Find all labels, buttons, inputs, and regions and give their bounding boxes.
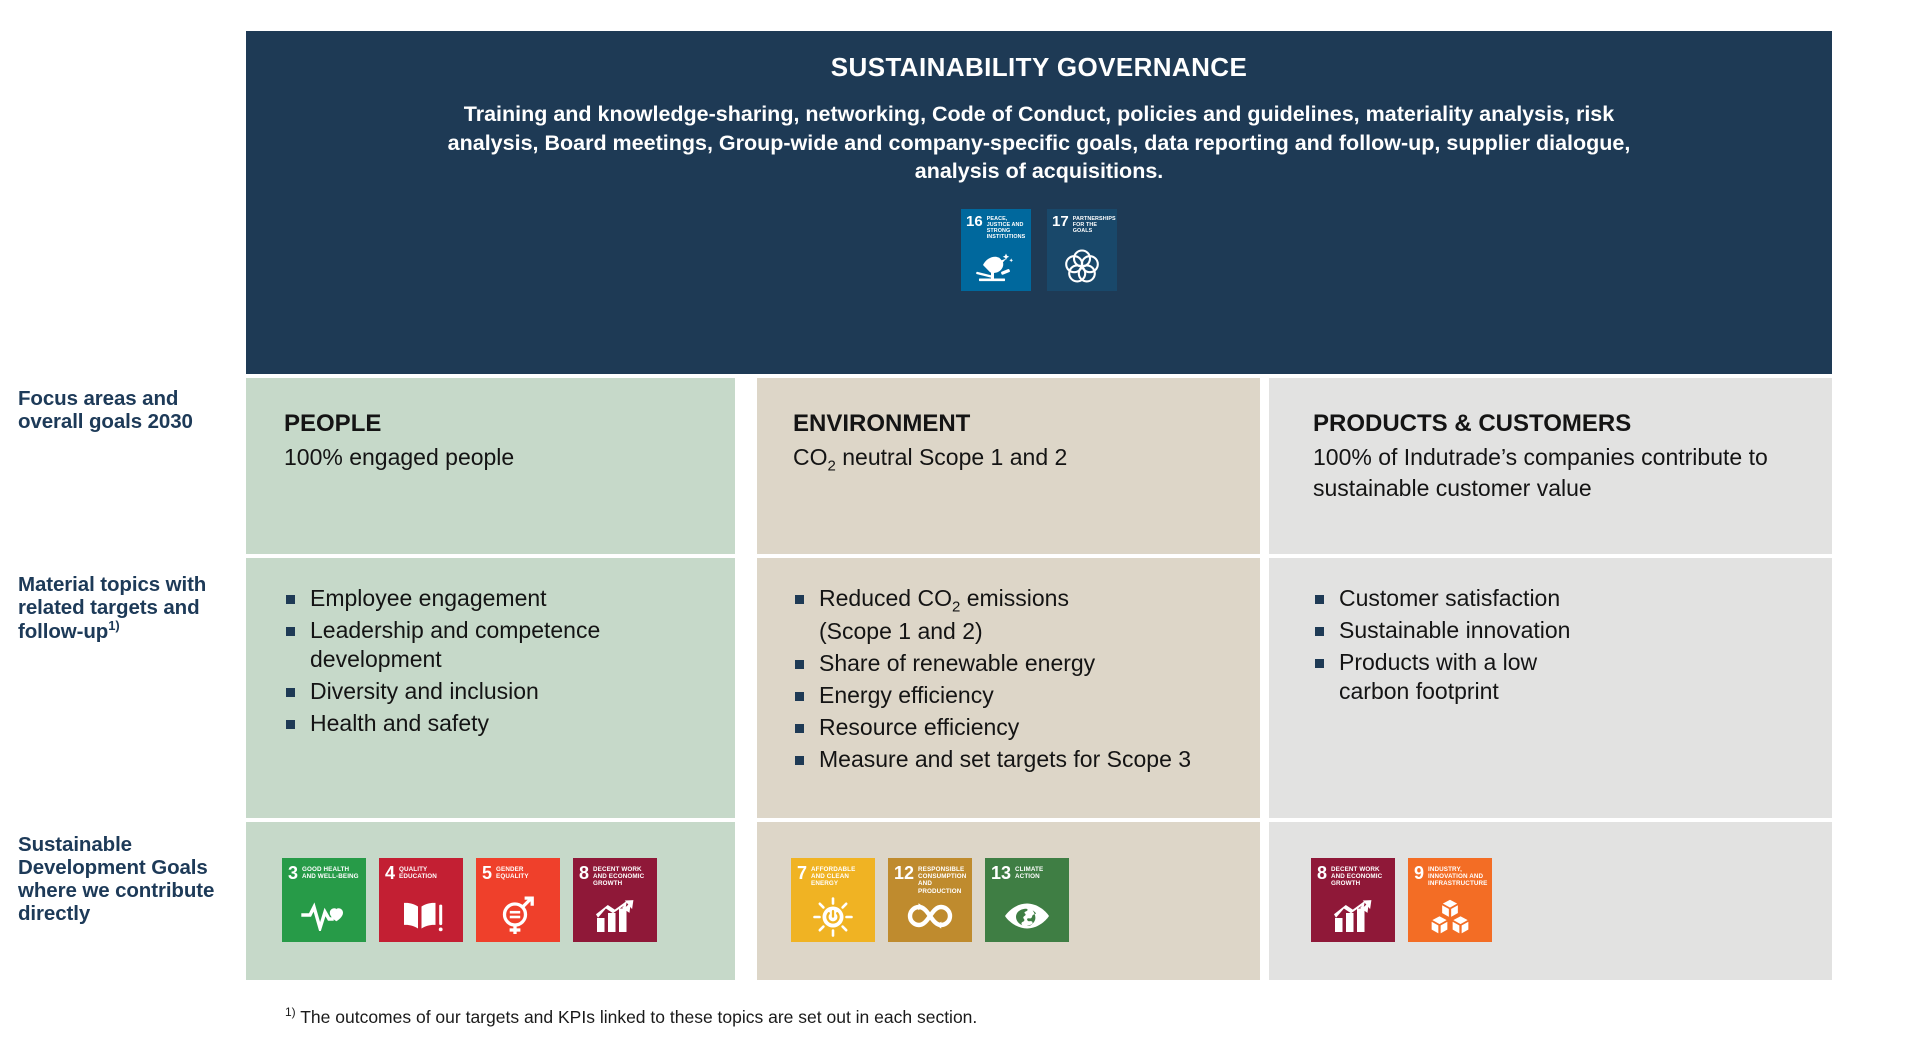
sdg-header: 16 Peace, justice and strong institution… (966, 215, 1026, 241)
sdg-title: Affordable and clean energy (811, 865, 869, 888)
sdg-tile-8[interactable]: 8Decent work and economic growth (573, 858, 657, 942)
sdg-tile-3[interactable]: 3Good health and well-being (282, 858, 366, 942)
gender-equality-icon (476, 895, 560, 937)
sdg-tile-5[interactable]: 5Gender equality (476, 858, 560, 942)
sdg-header: 12Responsible consumption and production (894, 865, 966, 895)
cell-people-topics: Employee engagementLeadership and compet… (246, 558, 735, 818)
sdg-tile-9[interactable]: 9Industry, innovation and infrastructure (1408, 858, 1492, 942)
sdg-tile-7[interactable]: 7Affordable and clean energy (791, 858, 875, 942)
sdg-title: Gender equality (496, 865, 554, 880)
sdg-title: Peace, justice and strong institutions (987, 215, 1026, 241)
sdg-tile-17[interactable]: 17 Partnerships for the goals (1047, 209, 1117, 291)
cell-products-topics: Customer satisfactionSustainable innovat… (1269, 558, 1832, 818)
infinity-loop-icon (888, 895, 972, 937)
sustainability-matrix: SUSTAINABILITY GOVERNANCE Training and k… (0, 0, 1920, 1048)
sdg-title: Decent work and economic growth (1331, 865, 1389, 888)
sdg-title: Responsible consumption and production (918, 865, 966, 895)
row-label-focus-areas: Focus areas and overall goals 2030 (18, 387, 233, 433)
sdg-tile-12[interactable]: 12Responsible consumption and production (888, 858, 972, 942)
row-label-material-topics: Material topics with related targets and… (18, 573, 233, 643)
dove-gavel-icon (961, 247, 1031, 287)
cell-environment-goal: ENVIRONMENT CO2 neutral Scope 1 and 2 (757, 378, 1260, 554)
cell-environment-sdgs: 7Affordable and clean energy12Responsibl… (757, 822, 1260, 980)
sdg-header: 17 Partnerships for the goals (1052, 215, 1112, 234)
column-goal-people: 100% engaged people (284, 442, 707, 473)
sdg-number: 7 (797, 865, 807, 882)
sdg-header: 7Affordable and clean energy (797, 865, 869, 888)
topic-item: Products with a lowcarbon footprint (1313, 648, 1812, 706)
heartbeat-icon (282, 895, 366, 937)
governance-sdg-list: 16 Peace, justice and strong institution… (246, 209, 1832, 291)
topic-list-people: Employee engagementLeadership and compet… (284, 584, 715, 738)
topic-item: Measure and set targets for Scope 3 (793, 745, 1246, 774)
sdg-tile-8[interactable]: 8Decent work and economic growth (1311, 858, 1395, 942)
cell-products-goal: PRODUCTS & CUSTOMERS 100% of Indutrade’s… (1269, 378, 1832, 554)
column-goal-environment: CO2 neutral Scope 1 and 2 (793, 442, 1232, 477)
footnote: 1) The outcomes of our targets and KPIs … (285, 1005, 977, 1028)
sdg-title: Industry, innovation and infrastructure (1428, 865, 1487, 888)
footnote-marker: 1) (108, 618, 119, 633)
sdg-list-people: 3Good health and well-being4Quality educ… (282, 858, 735, 942)
row-label-text: Sustainable Development Goals where we c… (18, 833, 214, 925)
governance-banner: SUSTAINABILITY GOVERNANCE Training and k… (246, 31, 1832, 374)
sdg-number: 17 (1052, 215, 1069, 229)
column-title-environment: ENVIRONMENT (793, 410, 1232, 438)
cell-people-goal: PEOPLE 100% engaged people (246, 378, 735, 554)
topic-item: Leadership and competence development (284, 616, 715, 674)
sdg-title: Quality education (399, 865, 457, 880)
sdg-tile-16[interactable]: 16 Peace, justice and strong institution… (961, 209, 1031, 291)
sdg-list-environment: 7Affordable and clean energy12Responsibl… (791, 858, 1260, 942)
topic-item: Share of renewable energy (793, 649, 1246, 678)
row-label-sdgs: Sustainable Development Goals where we c… (18, 833, 233, 926)
sdg-number: 4 (385, 865, 395, 882)
topic-item: Employee engagement (284, 584, 715, 613)
cubes-icon (1408, 895, 1492, 937)
topic-item: Reduced CO2 emissions(Scope 1 and 2) (793, 584, 1246, 646)
sdg-number: 3 (288, 865, 298, 882)
sdg-title: Decent work and economic growth (593, 865, 651, 888)
sdg-number: 8 (579, 865, 589, 882)
sdg-number: 13 (991, 865, 1011, 882)
topic-item: Diversity and inclusion (284, 677, 715, 706)
growth-chart-icon (573, 895, 657, 937)
sun-power-icon (791, 895, 875, 937)
topic-item: Customer satisfaction (1313, 584, 1812, 613)
sdg-header: 8Decent work and economic growth (1317, 865, 1389, 888)
sdg-header: 9Industry, innovation and infrastructure (1414, 865, 1486, 888)
cell-environment-topics: Reduced CO2 emissions(Scope 1 and 2)Shar… (757, 558, 1260, 818)
row-label-text: Focus areas and overall goals 2030 (18, 387, 193, 433)
column-title-people: PEOPLE (284, 410, 707, 438)
sdg-number: 16 (966, 215, 983, 229)
column-title-products: PRODUCTS & CUSTOMERS (1313, 410, 1804, 438)
sdg-header: 13Climate action (991, 865, 1063, 882)
sdg-list-products: 8Decent work and economic growth9Industr… (1311, 858, 1832, 942)
topic-list-environment: Reduced CO2 emissions(Scope 1 and 2)Shar… (793, 584, 1246, 774)
sdg-header: 3Good health and well-being (288, 865, 360, 882)
sdg-title: Climate action (1015, 865, 1063, 880)
sdg-number: 5 (482, 865, 492, 882)
governance-title: SUSTAINABILITY GOVERNANCE (246, 52, 1832, 83)
sdg-number: 8 (1317, 865, 1327, 882)
sdg-tile-4[interactable]: 4Quality education (379, 858, 463, 942)
footnote-marker: 1) (285, 1005, 296, 1019)
sdg-number: 9 (1414, 865, 1424, 882)
topic-item: Health and safety (284, 709, 715, 738)
sdg-tile-13[interactable]: 13Climate action (985, 858, 1069, 942)
topic-item: Sustainable innovation (1313, 616, 1812, 645)
sdg-title: Good health and well-being (302, 865, 360, 880)
sdg-number: 12 (894, 865, 914, 882)
sdg-header: 8Decent work and economic growth (579, 865, 651, 888)
growth-chart-icon (1311, 895, 1395, 937)
open-book-icon (379, 895, 463, 937)
sdg-header: 5Gender equality (482, 865, 554, 882)
column-goal-products: 100% of Indutrade’s companies contribute… (1313, 442, 1804, 503)
topic-list-products: Customer satisfactionSustainable innovat… (1313, 584, 1812, 706)
climate-eye-icon (985, 895, 1069, 937)
cell-products-sdgs: 8Decent work and economic growth9Industr… (1269, 822, 1832, 980)
sdg-header: 4Quality education (385, 865, 457, 882)
topic-item: Energy efficiency (793, 681, 1246, 710)
topic-item: Resource efficiency (793, 713, 1246, 742)
governance-description: Training and knowledge-sharing, networki… (246, 100, 1832, 186)
interlocking-circles-icon (1047, 247, 1117, 287)
sdg-title: Partnerships for the goals (1073, 215, 1116, 234)
cell-people-sdgs: 3Good health and well-being4Quality educ… (246, 822, 735, 980)
footnote-text: The outcomes of our targets and KPIs lin… (300, 1007, 977, 1027)
